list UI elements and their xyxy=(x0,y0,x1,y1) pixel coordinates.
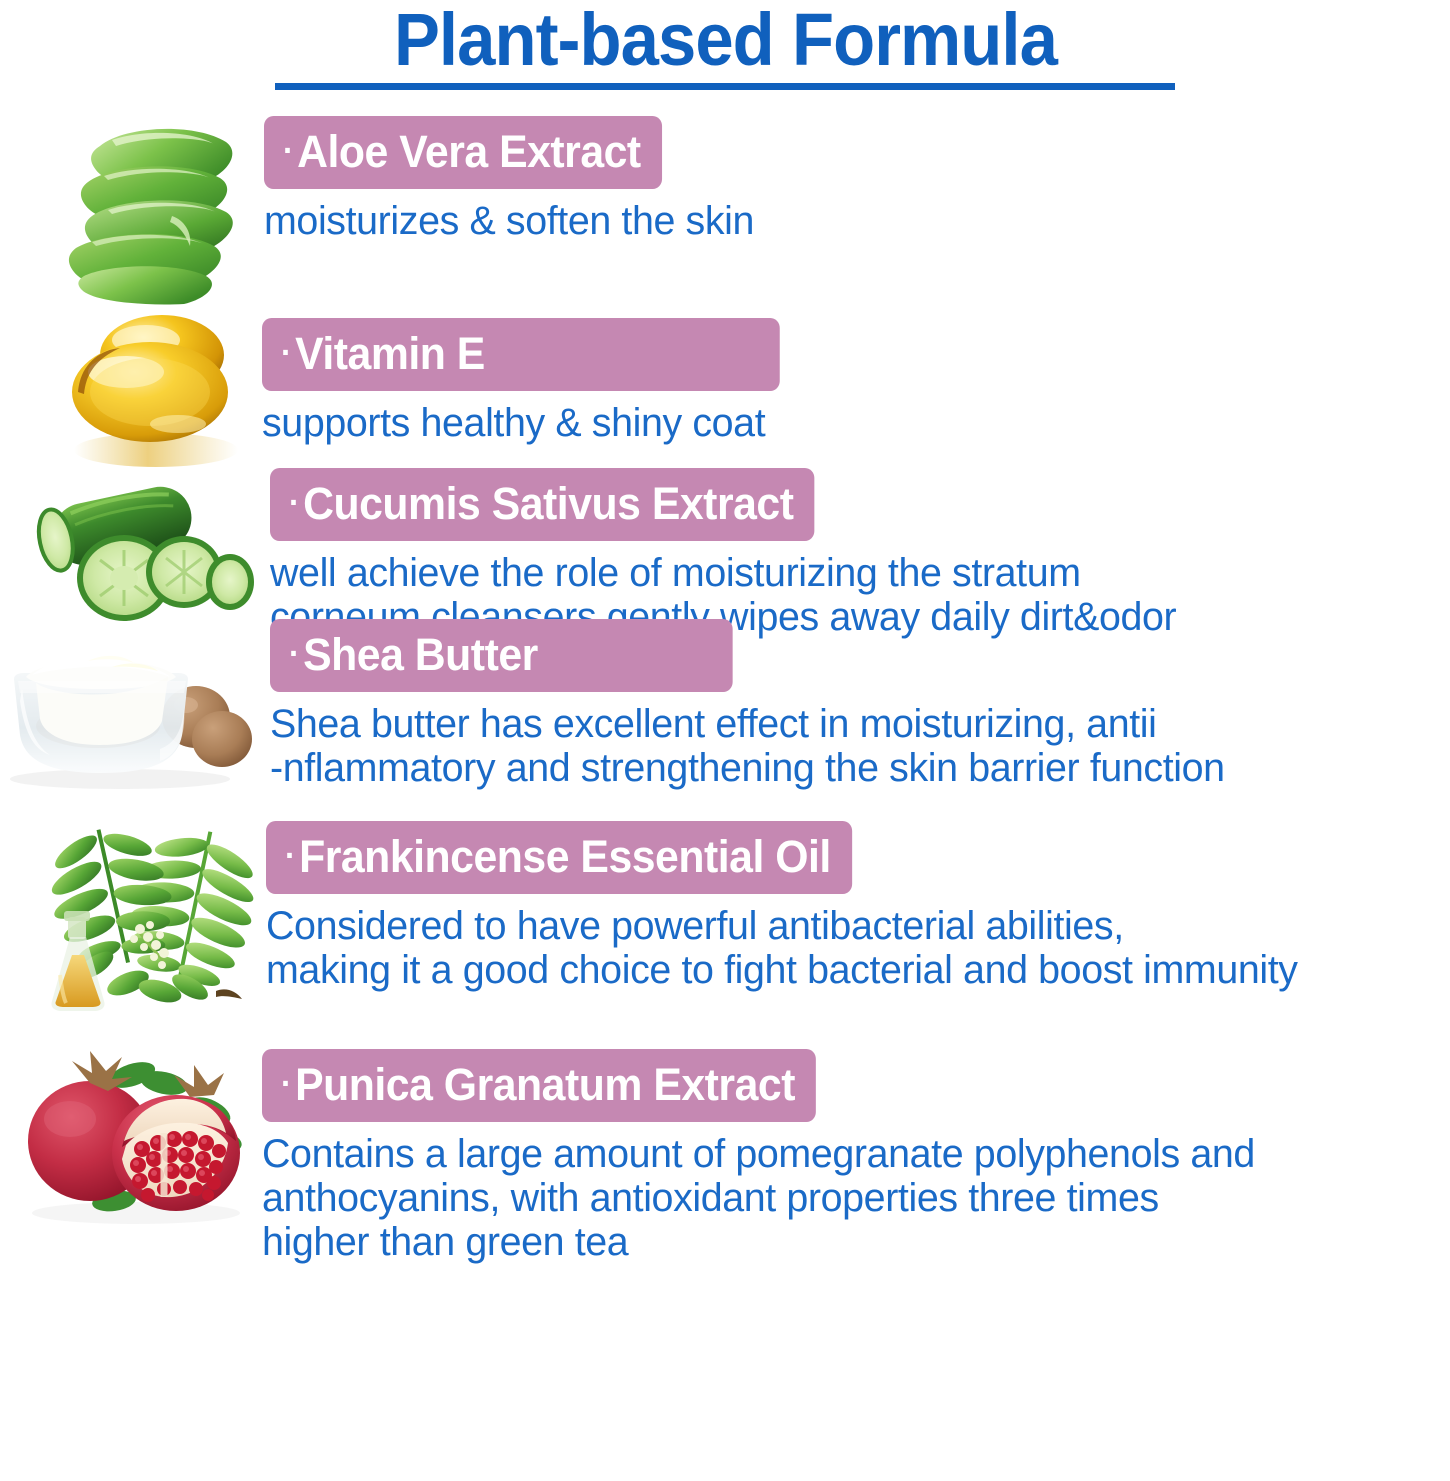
ingredient-text-cucumis-sativus: ·Cucumis Sativus Extract well achieve th… xyxy=(270,464,1450,639)
title-underline-rule xyxy=(275,83,1175,90)
aloe-vera-slices-image xyxy=(54,116,250,306)
ingredient-badge-punica-granatum: ·Punica Granatum Extract xyxy=(262,1049,816,1122)
ingredient-badge-frankincense: ·Frankincense Essential Oil xyxy=(266,821,852,894)
ingredient-name-label: Cucumis Sativus Extract xyxy=(303,478,793,529)
ingredient-description-punica-granatum: Contains a large amount of pomegranate p… xyxy=(262,1132,1432,1264)
bullet-dot-icon: · xyxy=(285,837,295,875)
ingredient-item-aloe-vera: ·Aloe Vera Extract moisturizes & soften … xyxy=(0,106,1450,306)
ingredient-text-shea-butter: ·Shea Butter Shea butter has excellent e… xyxy=(270,615,1450,790)
bullet-dot-icon: · xyxy=(283,132,293,170)
vitamin-e-softgel-capsules-image xyxy=(58,300,250,480)
ingredient-description-frankincense: Considered to have powerful antibacteria… xyxy=(266,904,1432,992)
page-header: Plant-based Formula xyxy=(0,0,1450,90)
bullet-dot-icon: · xyxy=(289,635,299,673)
ingredient-badge-shea-butter: ·Shea Butter xyxy=(270,619,733,692)
ingredient-description-aloe-vera: moisturizes & soften the skin xyxy=(264,199,1432,243)
ingredient-description-shea-butter: Shea butter has excellent effect in mois… xyxy=(270,702,1432,790)
bullet-dot-icon: · xyxy=(289,484,299,522)
ingredient-badge-vitamin-e: ·Vitamin E xyxy=(262,318,779,391)
ingredient-badge-cucumis-sativus: ·Cucumis Sativus Extract xyxy=(270,468,814,541)
ingredient-item-punica-granatum: ·Punica Granatum Extract Contains a larg… xyxy=(0,1023,1450,1264)
ingredient-text-punica-granatum: ·Punica Granatum Extract Contains a larg… xyxy=(262,1045,1450,1264)
cucumber-slices-image xyxy=(18,472,256,632)
ingredient-item-vitamin-e: ·Vitamin E supports healthy & shiny coat xyxy=(0,300,1450,480)
ingredient-item-frankincense: ·Frankincense Essential Oil Considered t… xyxy=(0,805,1450,1017)
ingredient-item-shea-butter: ·Shea Butter Shea butter has excellent e… xyxy=(0,615,1450,791)
ingredient-name-label: Aloe Vera Extract xyxy=(297,126,641,177)
ingredient-list: ·Aloe Vera Extract moisturizes & soften … xyxy=(0,106,1450,1264)
ingredient-description-vitamin-e: supports healthy & shiny coat xyxy=(262,401,1432,445)
ingredient-text-frankincense: ·Frankincense Essential Oil Considered t… xyxy=(266,817,1450,992)
ingredient-badge-aloe-vera: ·Aloe Vera Extract xyxy=(264,116,662,189)
ingredient-item-cucumis-sativus: ·Cucumis Sativus Extract well achieve th… xyxy=(0,462,1450,639)
ingredient-name-label: Vitamin E xyxy=(295,328,485,379)
ingredient-text-vitamin-e: ·Vitamin E supports healthy & shiny coat xyxy=(262,314,1450,445)
bullet-dot-icon: · xyxy=(281,334,291,372)
frankincense-plant-oil-image xyxy=(40,805,256,1017)
ingredient-name-label: Shea Butter xyxy=(303,629,538,680)
bullet-dot-icon: · xyxy=(281,1065,291,1103)
pomegranate-fruit-image xyxy=(14,1037,252,1227)
ingredient-name-label: Frankincense Essential Oil xyxy=(299,831,831,882)
shea-butter-bowl-image xyxy=(0,631,258,791)
ingredient-name-label: Punica Granatum Extract xyxy=(295,1059,795,1110)
page-title: Plant-based Formula xyxy=(393,2,1056,77)
ingredient-text-aloe-vera: ·Aloe Vera Extract moisturizes & soften … xyxy=(264,112,1450,243)
